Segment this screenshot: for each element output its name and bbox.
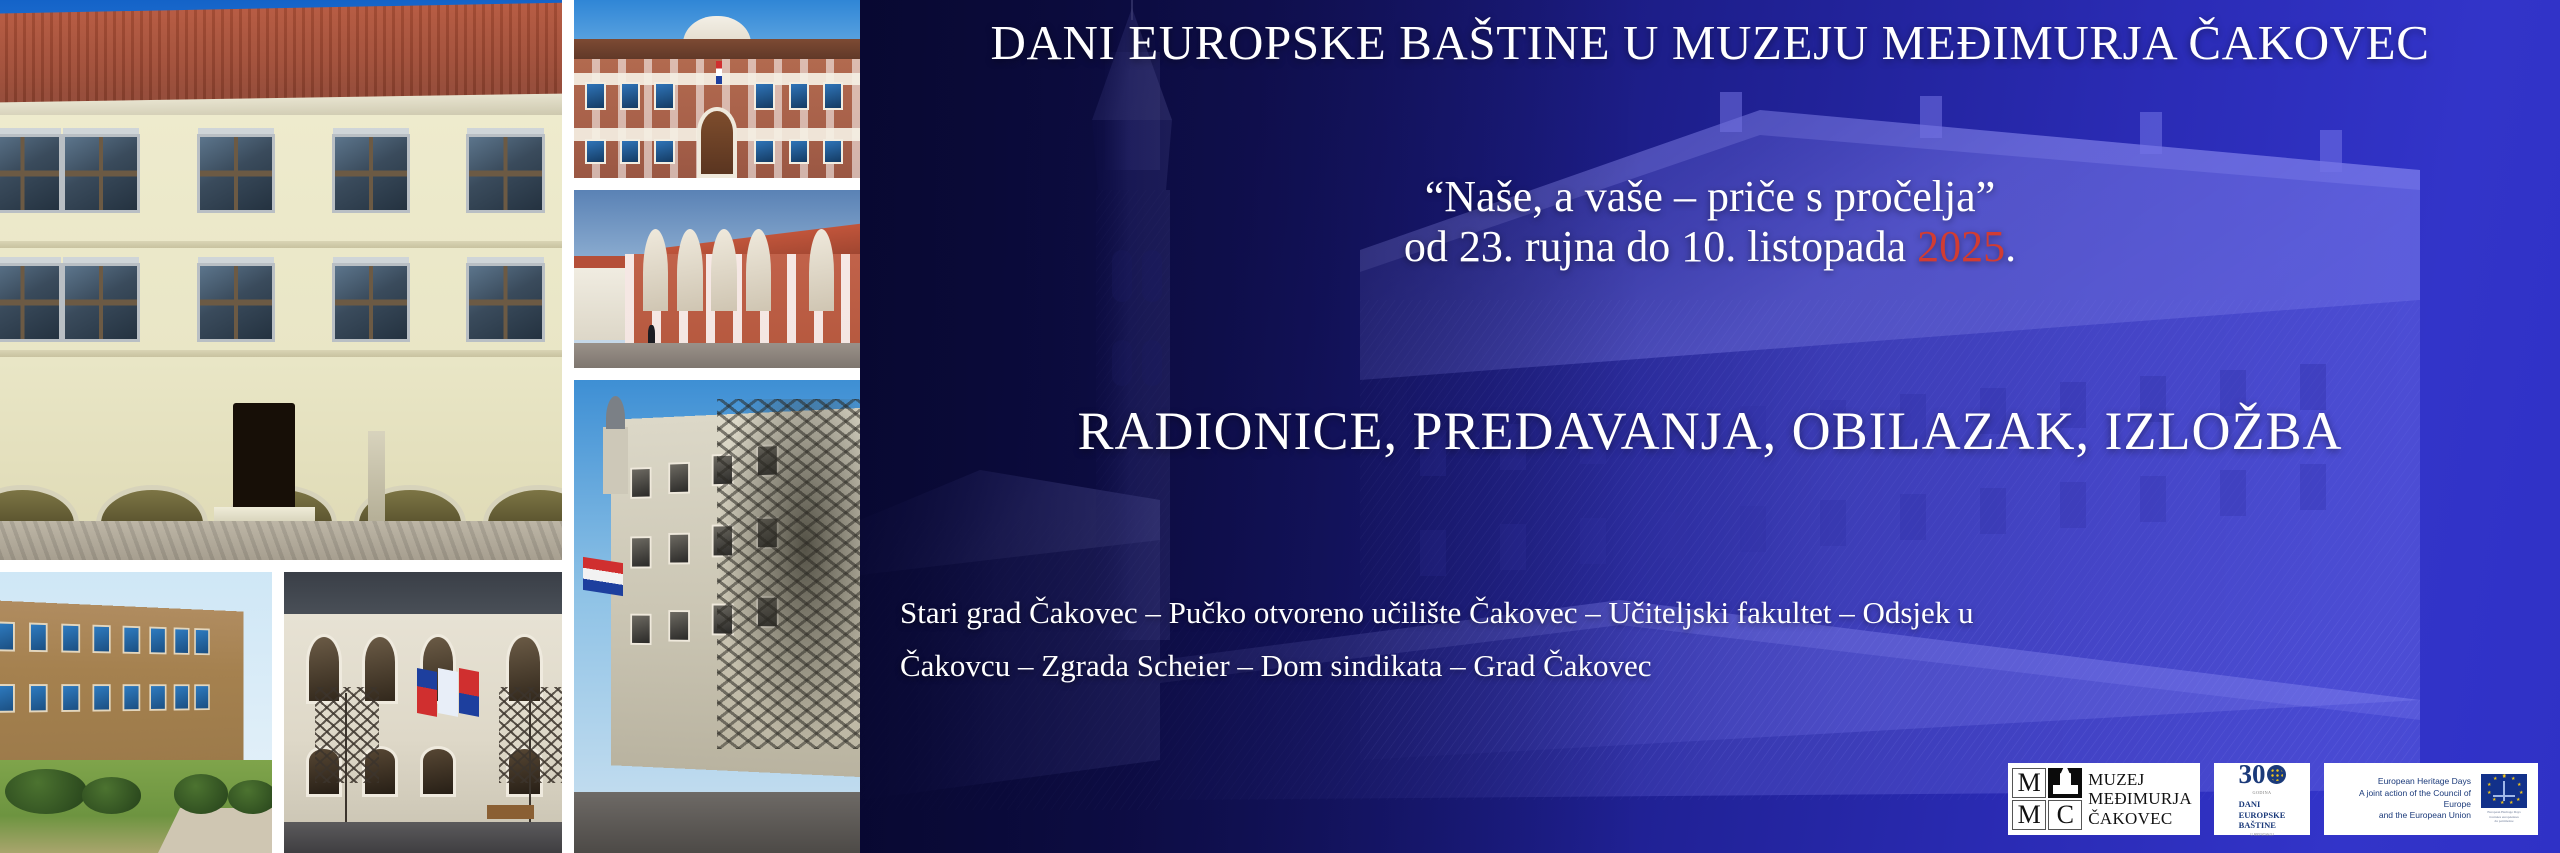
poster-content-panel: DANI EUROPSKE BAŠTINE U MUZEJU MEĐIMURJA…	[860, 0, 2560, 853]
subtitle-dates: od 23. rujna do 10. listopada 2025.	[860, 222, 2560, 272]
subtitle-year: 2025	[1917, 222, 2005, 271]
poster-subtitle: “Naše, a vaše – priče s pročelja” od 23.…	[860, 172, 2560, 272]
mmc-line-1: MUZEJ	[2088, 770, 2192, 789]
subtitle-dates-suffix: .	[2005, 222, 2016, 271]
deb-mark: 30	[2239, 761, 2286, 788]
deb-line-3: BAŠTINE	[2239, 820, 2286, 830]
venues-line-2: Čakovcu – Zgrada Scheier – Dom sindikata…	[900, 639, 2500, 692]
photo-classicist-building-flags	[284, 572, 562, 853]
poster-headline: RADIONICE, PREDAVANJA, OBILAZAK, IZLOŽBA	[860, 400, 2560, 462]
logo-30-godina-dani-europske-bastine: 30 GODINA DANI EUROPSKE BAŠTINE U HRVATS…	[2214, 763, 2310, 835]
ehd-line-3: and the European Union	[2333, 810, 2471, 821]
deb-line-2: EUROPSKE	[2239, 810, 2286, 820]
deb-godina: GODINA	[2253, 790, 2272, 795]
deb-wordmark: DANI EUROPSKE BAŠTINE	[2239, 799, 2286, 830]
venues-line-1: Stari grad Čakovec – Pučko otvoreno učil…	[900, 586, 2500, 639]
subtitle-quote: “Naše, a vaše – priče s pročelja”	[860, 172, 2560, 222]
logo-muzej-medimurja-cakovec: M M C MUZEJ MEĐIMURJA ČAKOVEC	[2008, 763, 2200, 835]
european-union-flag-icon: ★ ★ ★ ★ ★ ★ ★ ★ ★ ★ ★ ★	[2481, 774, 2527, 808]
photo-collage	[0, 0, 860, 853]
ehd-wordmark: European Heritage Days A joint action of…	[2333, 776, 2471, 822]
logo-european-heritage-days: European Heritage Days A joint action of…	[2324, 763, 2538, 835]
ehd-flag-caption: European Heritage Days Journées européen…	[2479, 810, 2529, 823]
deb-line-1: DANI	[2239, 799, 2286, 809]
deb-footnote: U HRVATSKOJ	[2250, 833, 2273, 837]
ehd-line-2: A joint action of the Council of Europe	[2333, 788, 2471, 811]
photo-secession-corner-building	[574, 190, 860, 368]
photo-park-building	[0, 572, 272, 853]
photo-stari-grad-cakovec-courtyard	[0, 0, 562, 560]
ehd-caption-3: du patrimoine	[2479, 819, 2529, 823]
ehd-flag-block: ★ ★ ★ ★ ★ ★ ★ ★ ★ ★ ★ ★ European H	[2479, 774, 2529, 823]
mmc-wordmark: MUZEJ MEĐIMURJA ČAKOVEC	[2088, 770, 2192, 827]
photo-school-building	[574, 0, 860, 178]
poster-title: DANI EUROPSKE BAŠTINE U MUZEJU MEĐIMURJA…	[860, 14, 2560, 71]
logo-strip: M M C MUZEJ MEĐIMURJA ČAKOVEC 30 GODINA	[2008, 763, 2538, 835]
castle-tower-icon	[2048, 768, 2082, 798]
mmc-monogram: M M C	[2012, 768, 2082, 830]
poster-banner: DANI EUROPSKE BAŠTINE U MUZEJU MEĐIMURJA…	[0, 0, 2560, 853]
subtitle-dates-prefix: od 23. rujna do 10. listopada	[1404, 222, 1917, 271]
mmc-letter-m1: M	[2012, 768, 2046, 798]
ehd-line-1: European Heritage Days	[2333, 776, 2471, 787]
mmc-letter-c: C	[2048, 800, 2082, 830]
deb-number-30: 30	[2239, 761, 2266, 788]
mmc-line-3: ČAKOVEC	[2088, 809, 2192, 828]
mmc-letter-m2: M	[2012, 800, 2046, 830]
eu-stars-circle-icon	[2267, 765, 2286, 784]
photo-street-building-tree	[574, 380, 860, 853]
poster-venues-list: Stari grad Čakovec – Pučko otvoreno učil…	[900, 586, 2500, 693]
mmc-line-2: MEĐIMURJA	[2088, 789, 2192, 808]
